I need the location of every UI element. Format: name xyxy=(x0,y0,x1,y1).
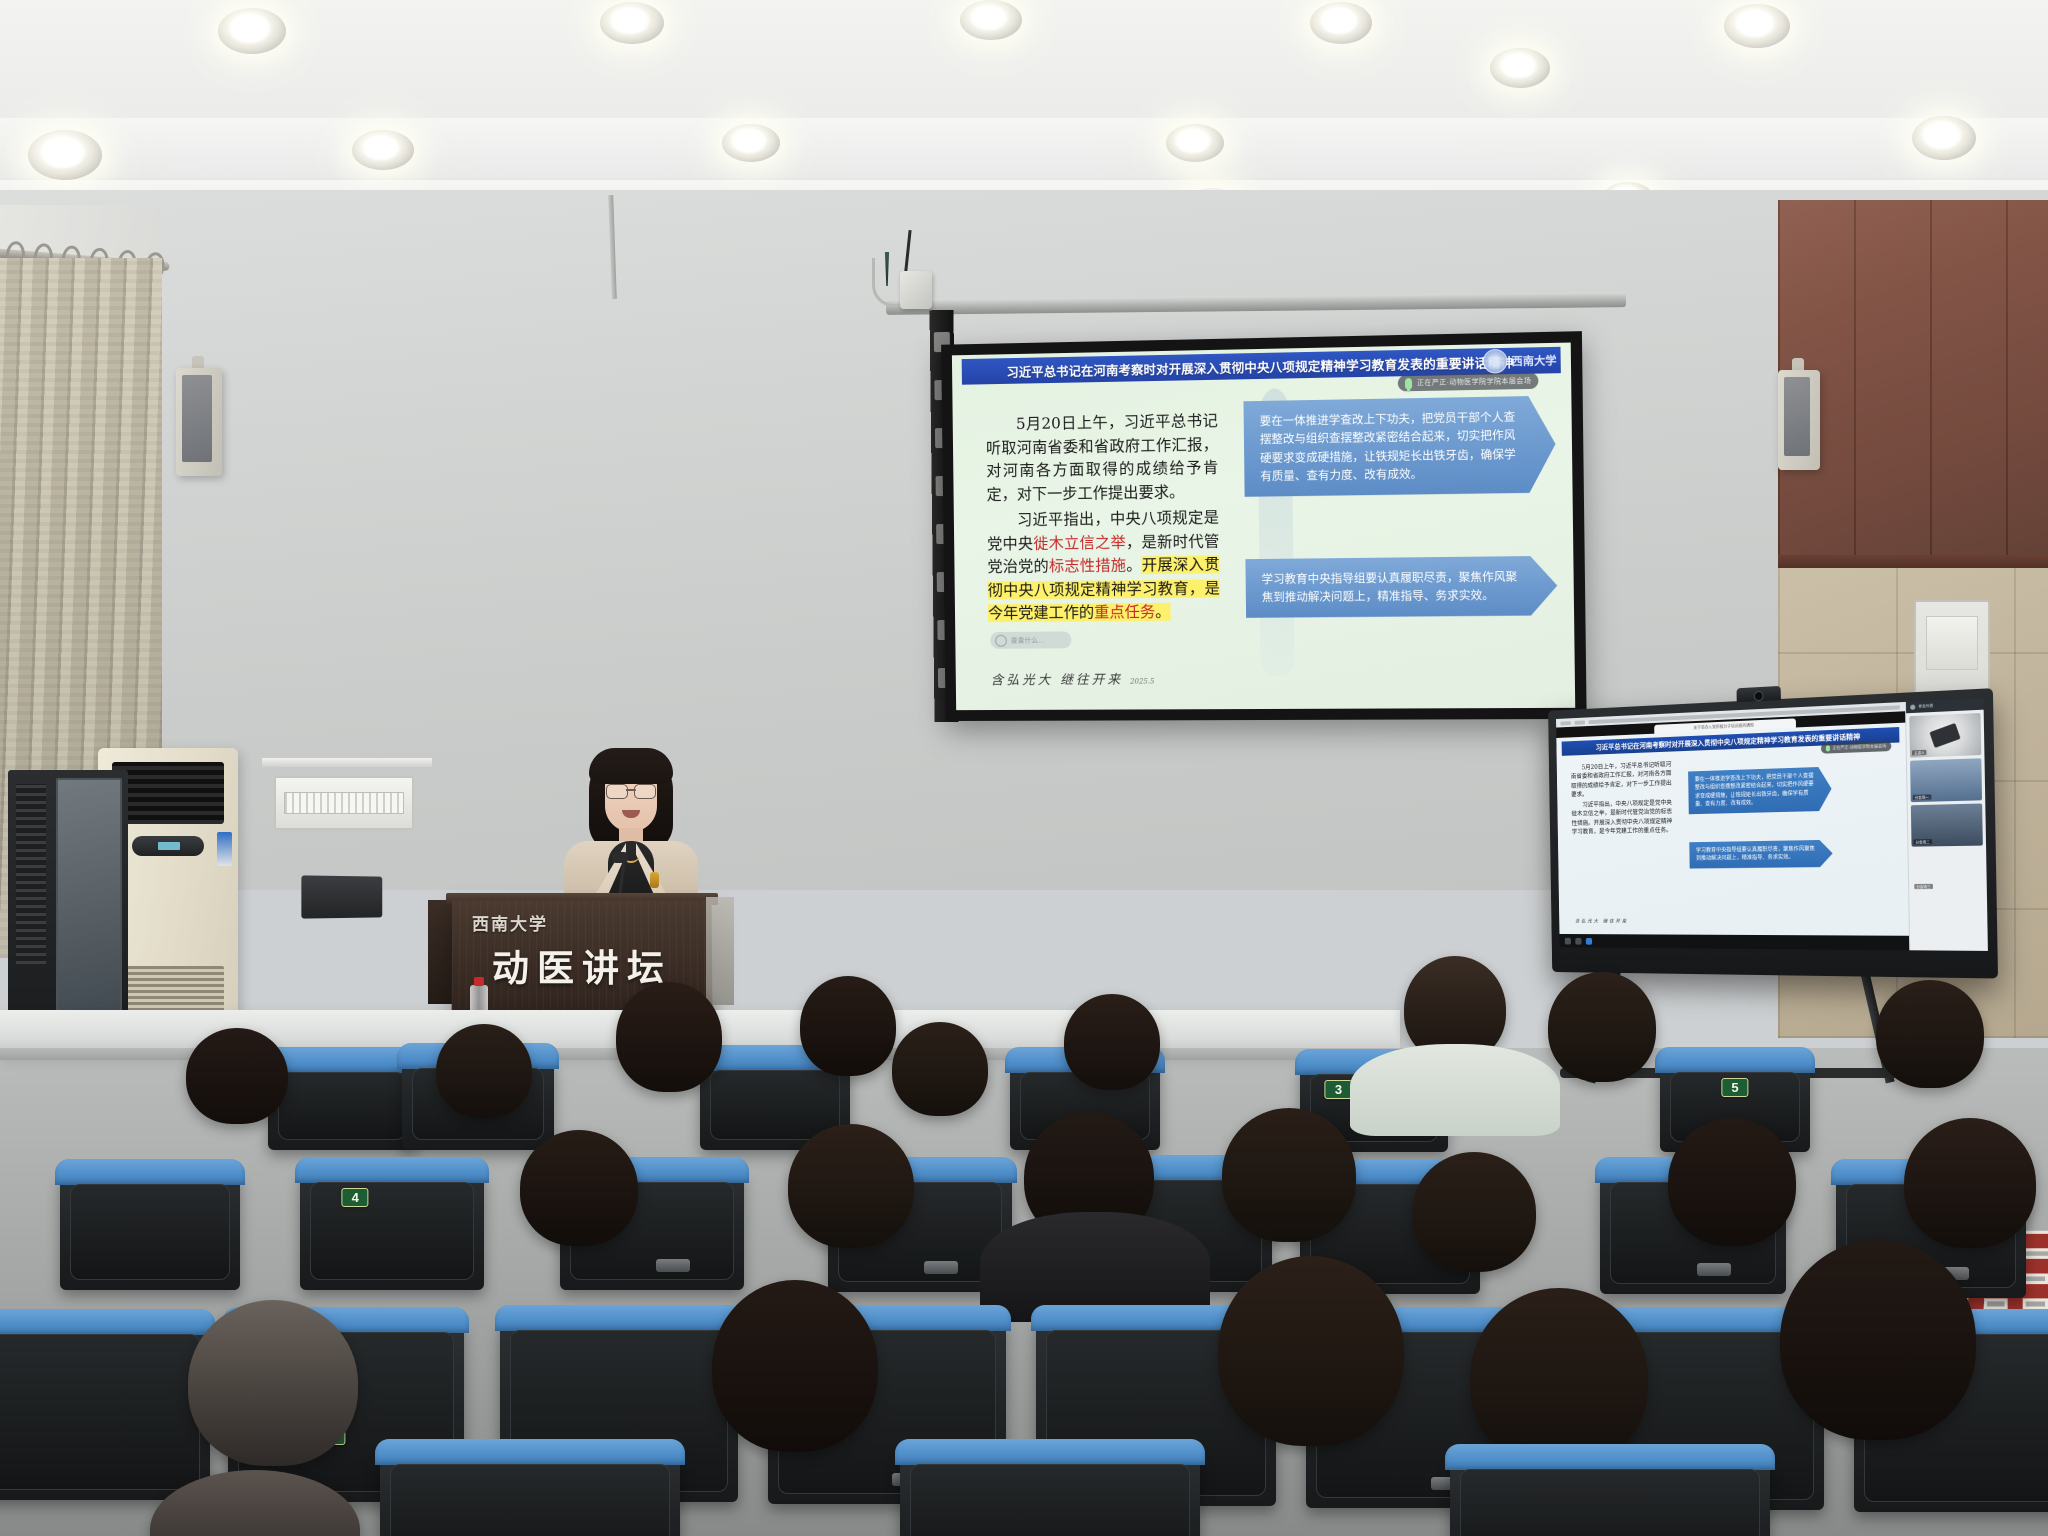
seat-number-tag: 4 xyxy=(342,1188,369,1207)
tv-screen: 关于举办入党积极分子培训班的通知 习近平总书记在河南考察时对开展深入贯彻中央八项… xyxy=(1556,698,1988,951)
browser-icon[interactable] xyxy=(1586,937,1592,944)
slide-paragraph-2: 习近平指出，中央八项规定是党中央徙木立信之举，是新时代管党治党的标志性措施。开展… xyxy=(987,507,1221,626)
seat[interactable] xyxy=(60,1170,240,1290)
audience-head xyxy=(1218,1256,1404,1446)
seat-number-tag: 5 xyxy=(1721,1078,1748,1097)
tv-slide-chevron-1: 要在一体推进学查改上下功夫，把党员干部个人查摆整改与组织查摆整改紧密结合起来，切… xyxy=(1688,767,1832,815)
seat-headrest xyxy=(1445,1444,1775,1470)
slide-chevron-2: 学习教育中央指导组要认真履职尽责，聚焦作风聚焦到推动解决问题上，精准指导、务求实… xyxy=(1245,556,1557,618)
tv-projected-slide: 习近平总书记在河南考察时对开展深入贯彻中央八项规定精神学习教育发表的重要讲话精神… xyxy=(1556,723,1909,951)
slide-university-logo: 西南大学 xyxy=(1483,348,1557,374)
projected-slide: 习近平总书记在河南考察时对开展深入贯彻中央八项规定精神学习教育发表的重要讲话精神… xyxy=(952,343,1575,711)
seat-headrest xyxy=(0,1309,215,1335)
audience-head xyxy=(1548,972,1656,1082)
seat-back-panel xyxy=(1460,1469,1760,1536)
tv-video-tile-label: 分会场一 xyxy=(1913,794,1931,800)
ac-energy-label xyxy=(217,832,232,866)
projector-bracket xyxy=(900,271,932,309)
audience-head xyxy=(186,1028,288,1124)
tv-video-tile[interactable]: 分会场一 xyxy=(1910,758,1982,802)
seat-back-panel xyxy=(910,1464,1190,1536)
audience-head xyxy=(1064,994,1160,1090)
tv-video-tile-label: 主讲人 xyxy=(1912,750,1927,756)
tv-slide-left-column: 5月20日上午，习近平总书记听取河南省委和省政府工作汇报，对河南各方面取得的成绩… xyxy=(1571,760,1673,839)
seat-headrest xyxy=(375,1439,685,1465)
ceiling-downlight xyxy=(218,8,286,54)
audience-head xyxy=(788,1124,914,1248)
right-wall-speaker xyxy=(1778,370,1820,470)
seat-clip xyxy=(924,1261,958,1274)
seat-back-panel xyxy=(278,1072,406,1140)
audience-head xyxy=(436,1024,532,1118)
seat-headrest xyxy=(295,1157,489,1183)
audience-head xyxy=(1222,1108,1356,1242)
audience-head xyxy=(1412,1152,1536,1272)
plus-circle-icon xyxy=(995,634,1007,646)
seat-back-panel xyxy=(310,1182,474,1280)
ceiling-downlight xyxy=(352,130,414,170)
tv-conference-sidebar: 参会列表 主讲人 分会场一 分会场二 分会场三 xyxy=(1905,698,1988,951)
presenter-glasses xyxy=(606,784,656,797)
tv-mic-label: 正在严正·动物医学院本届会场 xyxy=(1832,743,1886,751)
audience-head xyxy=(1780,1240,1976,1440)
seat-back-panel xyxy=(390,1464,670,1536)
seat-headrest xyxy=(55,1159,245,1185)
presenter-hair-front xyxy=(589,748,673,784)
slide-footer-handwriting: 含弘光大 继往开来 2025.5 xyxy=(991,669,1155,689)
tv-video-tile[interactable]: 分会场三 xyxy=(1912,849,1984,891)
wall-cable-trunking xyxy=(262,758,432,767)
podium-left-side xyxy=(428,900,454,1004)
seat-back-panel xyxy=(710,1070,840,1140)
ceiling-downlight xyxy=(960,0,1022,40)
projection-screen: 习近平总书记在河南考察时对开展深入贯彻中央八项规定精神学习教育发表的重要讲话精神… xyxy=(941,331,1587,721)
podium-university-name: 西南大学 xyxy=(472,910,548,935)
seat-clip xyxy=(1697,1263,1731,1276)
tv-slide-paragraph-2: 习近平指出，中央八项规定是党中央徙木立信之举，是新时代管党治党的标志性措施。开展… xyxy=(1571,799,1672,837)
audience-head xyxy=(1668,1118,1796,1246)
seat-headrest xyxy=(1655,1047,1815,1073)
ceiling-downlight xyxy=(1310,2,1372,44)
seat[interactable] xyxy=(900,1450,1200,1536)
ac-control-panel[interactable] xyxy=(132,836,204,856)
tv-video-tile[interactable]: 分会场二 xyxy=(1911,803,1983,846)
presenter-lapel-pin xyxy=(650,872,659,888)
audience-head xyxy=(616,982,722,1092)
seat-clip xyxy=(656,1259,690,1272)
ceiling-downlight xyxy=(1166,124,1224,162)
seat[interactable] xyxy=(268,1058,416,1150)
ceiling-downlight xyxy=(1490,48,1550,88)
audience-head xyxy=(800,976,896,1076)
tv-browser-window: 关于举办入党积极分子培训班的通知 习近平总书记在河南考察时对开展深入贯彻中央八项… xyxy=(1556,702,1909,950)
tv-sidebar-header: 参会列表 xyxy=(1906,698,1984,713)
slide-footer-date: 2025.5 xyxy=(1130,678,1154,686)
slide-body: 5月20日上午，习近平总书记听取河南省委和省政府工作汇报，对河南各方面取得的成绩… xyxy=(952,377,1575,710)
audience-seating: 4 3 5 xyxy=(0,1000,2048,1536)
participants-icon xyxy=(1910,705,1915,710)
microphone-icon xyxy=(1826,745,1830,751)
browser-back-icon[interactable] xyxy=(1560,721,1571,725)
slide-logo-label: 西南大学 xyxy=(1511,352,1556,369)
seat-back-panel xyxy=(70,1184,230,1280)
rack-vent-slots xyxy=(16,784,46,964)
tv-slide-footer-motto: 含弘光大 继往开来 xyxy=(1575,918,1628,925)
audience-head xyxy=(1904,1118,2036,1248)
slide-chevron-2-text: 学习教育中央指导组要认真履职尽责，聚焦作风聚焦到推动解决问题上，精准指导、务求实… xyxy=(1262,569,1518,604)
left-wall-speaker xyxy=(176,368,222,476)
seat[interactable]: 4 xyxy=(300,1168,484,1290)
slide-chevron-1-text: 要在一体推进学查改上下功夫，把党员干部个人查摆整改与组织查摆整改紧密结合起来，切… xyxy=(1260,409,1516,483)
tv-mic-overlay: 正在严正·动物医学院本届会场 xyxy=(1821,741,1892,754)
ceiling-downlight xyxy=(722,124,780,162)
presenter-laptop xyxy=(301,875,382,918)
audience-head xyxy=(1470,1288,1648,1468)
ceiling-band-upper xyxy=(0,118,2048,181)
tv-video-tile[interactable]: 主讲人 xyxy=(1909,713,1981,758)
audience-shoulders xyxy=(1350,1044,1560,1136)
tv-slide-chevron-2: 学习教育中央指导组要认真履职尽责，聚焦作风聚焦到推动解决问题上，精准指导、务求实… xyxy=(1689,840,1833,869)
slide-inline-button[interactable]: 查查什么… xyxy=(990,631,1071,648)
ceiling-downlight xyxy=(28,130,102,180)
tv-video-tile-label: 分会场二 xyxy=(1913,839,1931,844)
slide-chevron-1: 要在一体推进学查改上下功夫，把党员干部个人查摆整改与组织查摆整改紧密结合起来，切… xyxy=(1243,396,1556,497)
audience-head xyxy=(1876,980,1984,1088)
podium-microphone-head xyxy=(612,852,628,863)
audience-head xyxy=(892,1022,988,1116)
tv-video-tile-label: 分会场三 xyxy=(1914,884,1932,889)
seat-back-panel xyxy=(0,1334,200,1490)
seat-headrest xyxy=(495,1305,743,1331)
ceiling-downlight xyxy=(600,2,664,44)
university-seal-icon xyxy=(1483,349,1508,374)
lecture-hall-photo: 发 展 习近平总书记在河南考察时对开展深入贯彻中央八项规定精神学习教育发表的重要 xyxy=(0,0,2048,1536)
browser-forward-icon[interactable] xyxy=(1574,720,1585,724)
ceiling-downlight xyxy=(1912,116,1976,160)
ceiling-downlight xyxy=(1724,4,1790,48)
slide-footer-motto: 含弘光大 继往开来 xyxy=(991,673,1124,689)
seat-number-tag: 3 xyxy=(1325,1080,1352,1099)
audience-head xyxy=(188,1300,358,1466)
seat[interactable] xyxy=(1450,1455,1770,1536)
smart-display: 关于举办入党积极分子培训班的通知 习近平总书记在河南考察时对开展深入贯彻中央八项… xyxy=(1548,688,1998,978)
start-menu-icon[interactable] xyxy=(1565,937,1571,944)
search-icon[interactable] xyxy=(1575,937,1581,944)
seat-headrest xyxy=(895,1439,1205,1465)
seat[interactable] xyxy=(380,1450,680,1536)
slide-paragraph-1: 5月20日上午，习近平总书记听取河南省委和省政府工作汇报，对河南各方面取得的成绩… xyxy=(986,410,1219,507)
tv-camera xyxy=(1737,686,1781,702)
seat[interactable] xyxy=(0,1320,210,1500)
slide-left-column: 5月20日上午，习近平总书记听取河南省委和省政府工作汇报，对河南各方面取得的成绩… xyxy=(986,410,1221,629)
ac-air-outlet-grille xyxy=(112,762,224,824)
tv-slide-paragraph-1: 5月20日上午，习近平总书记听取河南省委和省政府工作汇报，对河南各方面取得的成绩… xyxy=(1571,760,1672,799)
tv-sidebar-title: 参会列表 xyxy=(1918,704,1933,710)
slide-inline-button-label: 查查什么… xyxy=(1011,635,1045,645)
rack-glass-door[interactable] xyxy=(56,778,122,1032)
audience-head xyxy=(712,1280,878,1452)
electrical-panel xyxy=(274,776,414,830)
audience-head xyxy=(520,1130,638,1246)
